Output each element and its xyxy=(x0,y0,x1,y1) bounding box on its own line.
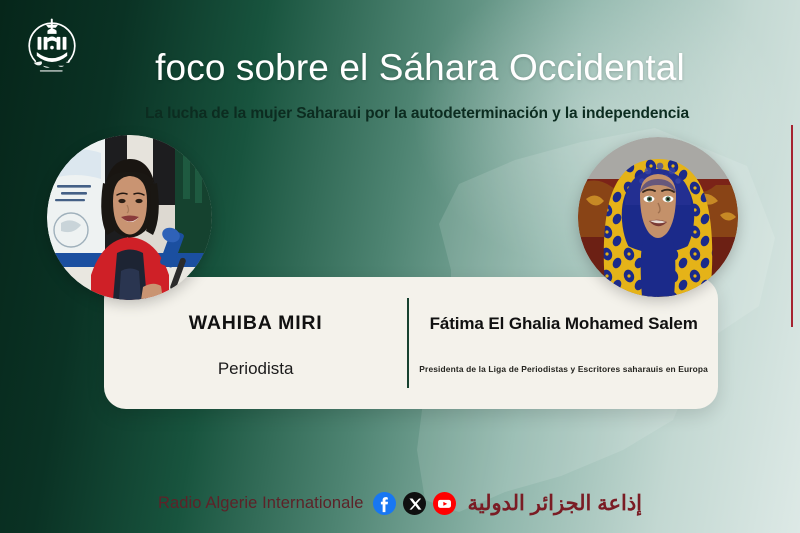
speaker-name-left: WAHIBA MIRI xyxy=(189,312,323,335)
broadcast-slide: foco sobre el Sáhara Occidental La lucha… xyxy=(0,0,800,533)
speaker-name-right: Fátima El Ghalia Mohamed Salem xyxy=(430,314,698,334)
page-title: foco sobre el Sáhara Occidental xyxy=(0,47,800,89)
page-subtitle: La lucha de la mujer Saharaui por la aut… xyxy=(0,105,800,123)
footer-branding: Radio Algerie Internationale xyxy=(0,491,800,516)
x-twitter-icon[interactable] xyxy=(403,492,426,515)
brand-name-latin: Radio Algerie Internationale xyxy=(158,494,364,513)
speakers-card: WAHIBA MIRI Periodista Fátima El Ghalia … xyxy=(104,277,718,409)
divider-cap-top xyxy=(406,277,410,298)
divider-cap-bottom xyxy=(406,388,410,409)
speaker-role-right: Presidenta de la Liga de Periodistas y E… xyxy=(419,364,708,374)
speaker-panel-right: Fátima El Ghalia Mohamed Salem President… xyxy=(407,277,718,409)
portrait-fatima-el-ghalia-mohamed-salem xyxy=(578,137,738,297)
facebook-icon[interactable] xyxy=(373,492,396,515)
accent-rule-right xyxy=(791,125,794,327)
brand-name-arabic: إذاعة الجزائر الدولية xyxy=(468,491,643,516)
speaker-role-left: Periodista xyxy=(218,359,294,379)
youtube-icon[interactable] xyxy=(433,492,456,515)
portrait-wahiba-miri xyxy=(47,135,212,300)
social-links xyxy=(373,492,456,515)
